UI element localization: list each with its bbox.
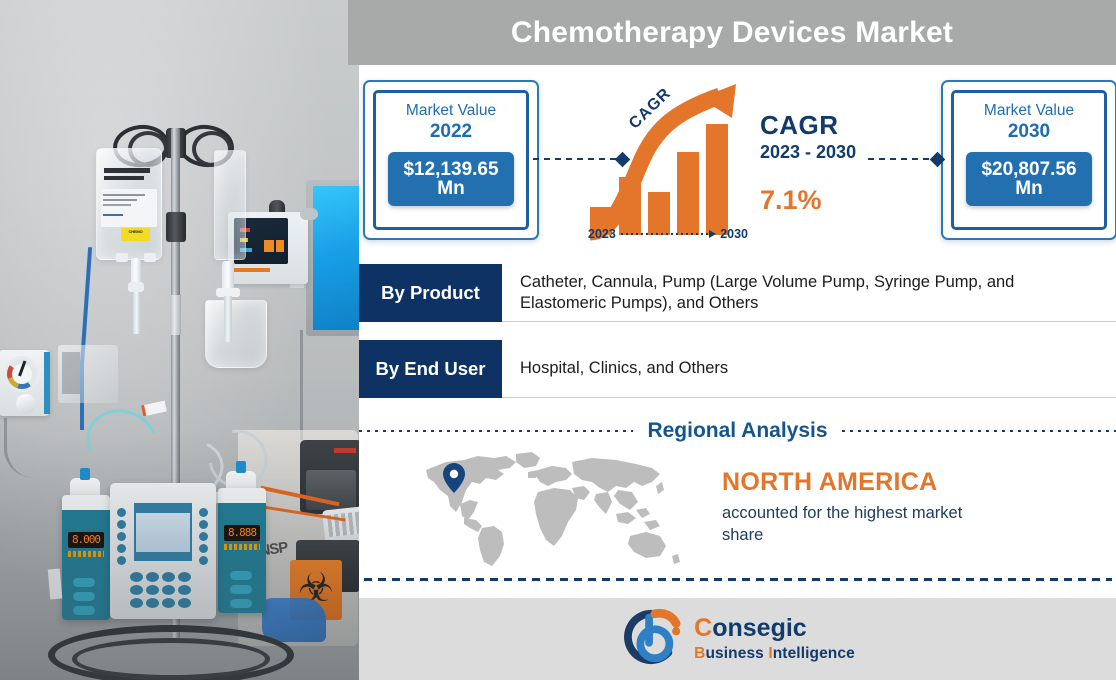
photo-display-screen	[313, 186, 360, 330]
growth-chart-year-axis: 2023 2030	[588, 225, 748, 243]
regional-analysis-text: NORTH AMERICA accounted for the highest …	[722, 468, 1082, 547]
photo-wall-supply-contents	[62, 352, 80, 394]
cagr-period: 2023 - 2030	[760, 142, 910, 163]
segment-value-by-product: Catheter, Cannula, Pump (Large Volume Pu…	[502, 264, 1116, 322]
photo-cord	[300, 330, 303, 440]
photo-bag-label-line	[103, 214, 123, 216]
photo-bag-label-line	[103, 199, 137, 201]
photo-drip-chamber	[131, 258, 141, 284]
tagline-business: usiness	[705, 645, 768, 662]
segment-row-by-product: By Product Catheter, Cannula, Pump (Larg…	[359, 264, 1116, 322]
tagline-b: B	[694, 645, 705, 662]
cagr-value: 7.1%	[760, 185, 910, 216]
photo-drip-tube	[133, 292, 140, 334]
divider-left	[359, 430, 633, 432]
market-value-2030-amount-badge: $20,807.56 Mn	[966, 152, 1092, 206]
brand-wordmark: Consegic Business Intelligence	[694, 616, 855, 663]
photo-regulator-knob	[16, 394, 36, 414]
photo-iv-bag-secondary	[214, 150, 246, 260]
page-title: Chemotherapy Devices Market	[348, 0, 1116, 65]
chemotherapy-equipment-photo: CHEMO ANSP	[0, 0, 360, 680]
photo-bag-label-line	[103, 204, 131, 206]
market-value-2022-label: Market Value	[406, 102, 496, 120]
market-value-2022-unit: Mn	[437, 179, 464, 198]
market-value-2030-card: Market Value 2030 $20,807.56 Mn	[941, 80, 1116, 240]
photo-vitals-digit	[276, 240, 284, 252]
cagr-title: CAGR	[760, 110, 910, 141]
regional-analysis-header: Regional Analysis	[359, 415, 1116, 447]
segment-row-by-end-user: By End User Hospital, Clinics, and Other…	[359, 340, 1116, 398]
photo-vignette	[0, 430, 360, 680]
photo-bag-barcode	[104, 168, 150, 173]
segment-label-by-product: By Product	[359, 264, 502, 322]
divider-right	[842, 430, 1116, 432]
photo-bag-barcode	[104, 176, 144, 180]
market-value-2022-year: 2022	[430, 121, 472, 143]
segment-value-by-end-user: Hospital, Clinics, and Others	[502, 340, 1116, 398]
growth-chart-year-end: 2030	[720, 227, 748, 241]
cagr-text-block: CAGR 2023 - 2030 7.1%	[760, 110, 910, 216]
photo-monitor-knob	[300, 208, 318, 220]
photo-vitals-digit	[264, 240, 274, 252]
brand-name: Consegic	[694, 616, 855, 641]
market-value-2022-amount-badge: $12,139.65 Mn	[388, 152, 514, 206]
consegic-b-logo-icon	[620, 608, 682, 671]
footer-bar: Consegic Business Intelligence	[359, 598, 1116, 680]
photo-pole-clamp	[166, 212, 186, 242]
location-pin-icon	[443, 463, 465, 493]
photo-bag-label-line	[103, 194, 145, 196]
photo-bag-port	[116, 253, 128, 262]
segment-label-by-end-user: By End User	[359, 340, 502, 398]
growth-chart-axis-arrow	[621, 233, 715, 235]
photo-pole-band	[170, 295, 181, 335]
photo-bag-port	[144, 253, 156, 262]
photo-monitor-orange-strip	[232, 268, 270, 272]
market-value-2030-unit: Mn	[1015, 179, 1042, 198]
photo-drip-cap	[128, 282, 144, 292]
photo-drip-tube	[224, 296, 232, 342]
brand-tagline: Business Intelligence	[694, 645, 855, 663]
brand-name-rest: onsegic	[712, 614, 806, 642]
photo-chemo-warning-tag: CHEMO	[121, 228, 150, 241]
regional-analysis-title: Regional Analysis	[633, 419, 841, 443]
market-value-2030-amount: $20,807.56	[981, 160, 1076, 179]
regional-analysis-bottom-divider	[364, 578, 1112, 581]
market-value-2022-amount: $12,139.65	[403, 160, 498, 179]
region-name: NORTH AMERICA	[722, 468, 1082, 497]
region-description: accounted for the highest market share	[722, 503, 1007, 547]
photo-iv-bag-lower	[205, 300, 267, 368]
market-value-2030-year: 2030	[1008, 121, 1050, 143]
brand-initial: C	[694, 614, 712, 642]
market-value-2030-label: Market Value	[984, 102, 1074, 120]
tagline-intelligence: ntelligence	[773, 645, 855, 662]
brand-logo: Consegic Business Intelligence	[620, 608, 855, 671]
market-value-2022-card: Market Value 2022 $12,139.65 Mn	[363, 80, 539, 240]
photo-regulator-tube	[44, 352, 50, 414]
growth-chart-year-start: 2023	[588, 227, 616, 241]
infographic-root: CHEMO ANSP	[0, 0, 1116, 680]
